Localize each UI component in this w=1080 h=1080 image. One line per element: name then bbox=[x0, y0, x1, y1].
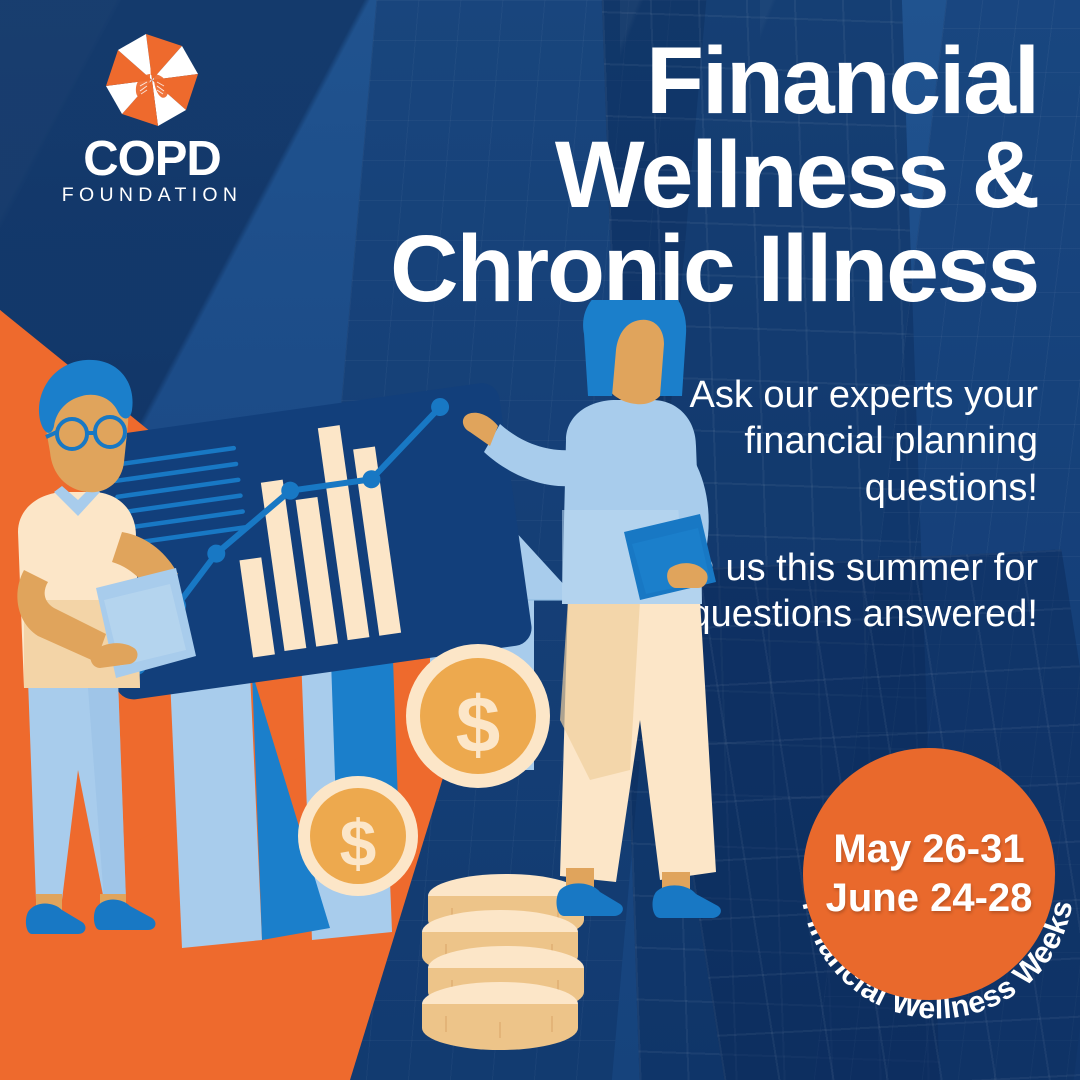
badge-circle: May 26-31 June 24-28 bbox=[803, 748, 1055, 1000]
copd-foundation-logo[interactable]: COPD FOUNDATION bbox=[52, 28, 252, 207]
promo-poster: COPD FOUNDATION Financial Wellness & Chr… bbox=[0, 0, 1080, 1080]
dollar-coin-large: $ bbox=[406, 644, 550, 788]
financial-illustration: $ $ bbox=[0, 300, 790, 1080]
logo-subtitle: FOUNDATION bbox=[52, 184, 252, 207]
logo-wordmark: COPD bbox=[52, 136, 252, 183]
copd-pinwheel-lungs-icon bbox=[100, 28, 204, 132]
date-badge[interactable]: Financial Wellness Weeks May 26-31 June … bbox=[795, 740, 1080, 1025]
dollar-coin-small: $ bbox=[298, 776, 418, 896]
svg-text:$: $ bbox=[340, 806, 377, 880]
badge-date-line-2: June 24-28 bbox=[826, 874, 1033, 923]
page-title: Financial Wellness & Chronic Illness bbox=[318, 34, 1038, 316]
headline-line-2: Wellness & bbox=[318, 128, 1038, 222]
badge-date-line-1: May 26-31 bbox=[833, 825, 1024, 874]
headline-line-1: Financial bbox=[318, 34, 1038, 128]
svg-text:$: $ bbox=[456, 680, 501, 769]
